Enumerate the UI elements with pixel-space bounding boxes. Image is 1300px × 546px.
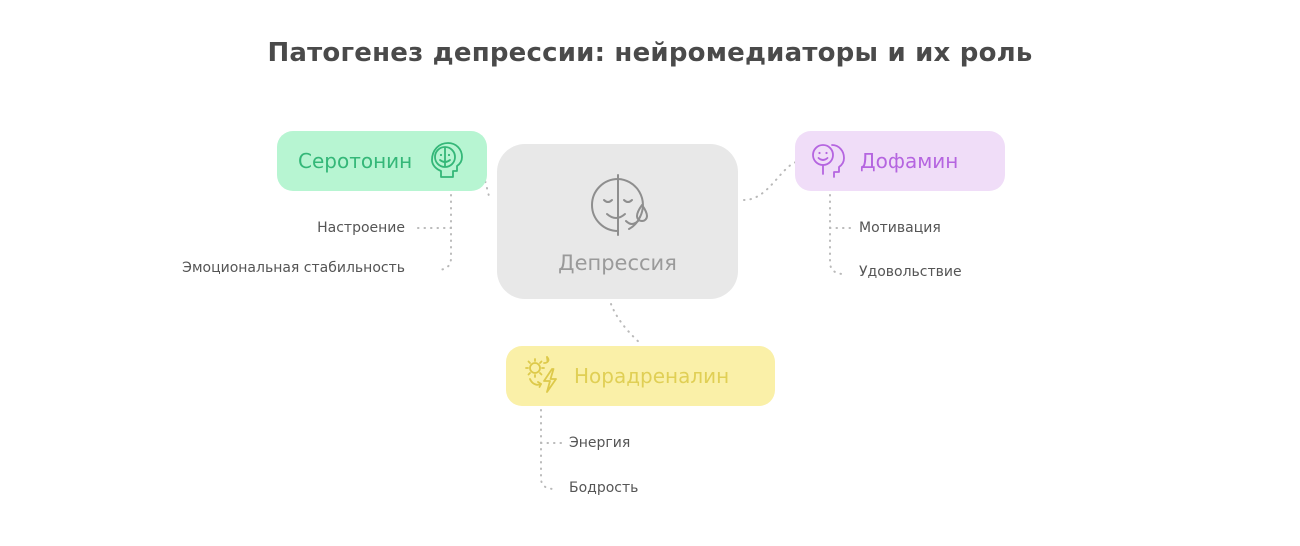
smiley-head-profile-icon bbox=[808, 140, 850, 182]
sub-label-serotonin-2: Эмоциональная стабильность bbox=[160, 260, 405, 276]
connector-central-to-dopamine bbox=[744, 162, 796, 200]
connector-dopamine-trunk bbox=[830, 195, 844, 274]
sub-label-dopamine-1: Мотивация bbox=[859, 220, 941, 236]
connector-serotonin-trunk bbox=[437, 195, 451, 270]
connector-central-to-noradrenaline bbox=[611, 304, 641, 344]
node-dopamine[interactable]: Дофамин bbox=[795, 131, 1005, 191]
node-serotonin[interactable]: Серотонин bbox=[277, 131, 487, 191]
head-with-smiley-brain-icon bbox=[426, 140, 466, 182]
central-node-label: Депрессия bbox=[558, 251, 677, 275]
mindmap-canvas: Патогенез депрессии: нейромедиаторы и их… bbox=[0, 0, 1300, 546]
central-node-depression[interactable]: Депрессия bbox=[497, 144, 738, 299]
node-noradrenaline-label: Норадреналин bbox=[574, 364, 729, 388]
sub-label-serotonin-1: Настроение bbox=[160, 220, 405, 236]
split-face-happy-sad-icon bbox=[582, 169, 654, 241]
page-title: Патогенез депрессии: нейромедиаторы и их… bbox=[0, 38, 1300, 68]
sun-lightning-energy-icon bbox=[522, 355, 564, 397]
node-serotonin-label: Серотонин bbox=[298, 149, 412, 173]
sub-label-dopamine-2: Удовольствие bbox=[859, 264, 962, 280]
node-noradrenaline[interactable]: Норадреналин bbox=[506, 346, 775, 406]
sub-label-noradrenaline-2: Бодрость bbox=[569, 480, 638, 496]
node-dopamine-label: Дофамин bbox=[860, 149, 958, 173]
sub-label-noradrenaline-1: Энергия bbox=[569, 435, 630, 451]
connector-noradrenaline-trunk bbox=[541, 410, 555, 489]
